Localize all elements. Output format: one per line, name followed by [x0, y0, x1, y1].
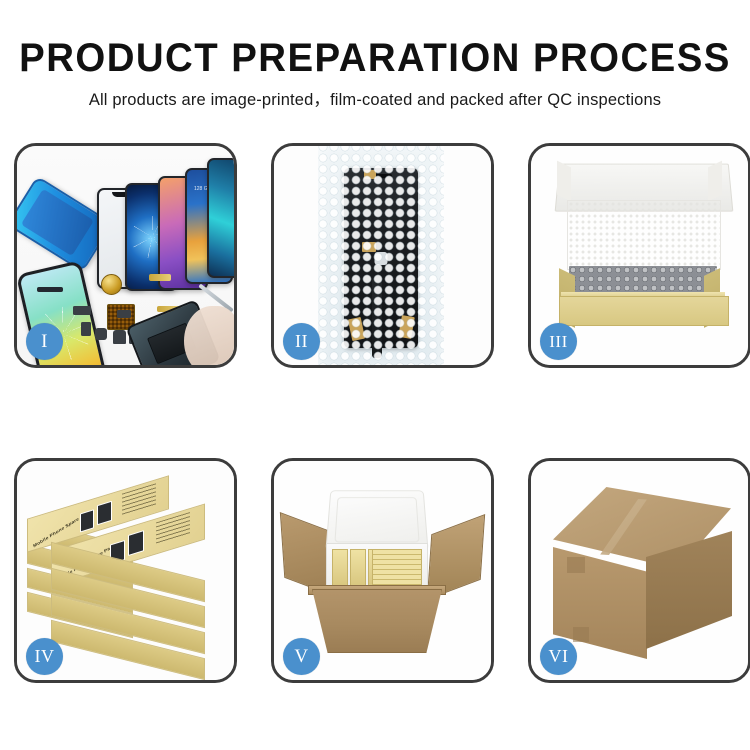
bubble-wrap-bag-icon: [318, 146, 444, 365]
step-2-badge: II: [283, 323, 320, 360]
small-black-bar-part-icon: [37, 287, 63, 292]
box-spec-lines-rear: [122, 483, 156, 515]
step-5-badge: V: [283, 638, 320, 675]
box-lid-left-fold-icon: [557, 161, 571, 202]
process-step-3: III: [528, 143, 750, 368]
box-thumbnail-front-2: [128, 530, 144, 556]
process-steps-grid: 128 GB I: [14, 143, 736, 683]
box-spec-lines-front: [156, 512, 190, 544]
speaker-part-icon: [113, 330, 126, 344]
yellow-box-item: [332, 549, 348, 587]
teal-wave-screen-icon: [207, 158, 234, 278]
process-step-2: II: [271, 143, 494, 368]
page-subtitle: All products are image-printed，film-coat…: [0, 89, 750, 111]
carton-tape-square-upper: [567, 557, 585, 573]
carton-body-icon: [312, 589, 442, 653]
chip-part-icon-3: [95, 328, 107, 340]
chip-part-icon-5: [117, 310, 131, 318]
step-1-badge: I: [26, 323, 63, 360]
step-3-badge: III: [540, 323, 577, 360]
chip-part-icon-2: [81, 322, 91, 336]
process-step-5: V: [271, 458, 494, 683]
process-step-4: Mobile Phone Spare Parts Mobile Phone Sp…: [14, 458, 237, 683]
box-thumbnail-rear-2: [97, 501, 112, 526]
chip-part-icon-1: [73, 306, 91, 315]
step-6-badge: VI: [540, 638, 577, 675]
foam-cooler-lid-icon: [325, 490, 428, 550]
yellow-boxes-horizontal-group: [372, 549, 422, 589]
box-lid-right-fold-icon: [708, 161, 722, 202]
yellow-box-item: [350, 549, 366, 587]
carton-tape-square-lower: [573, 627, 589, 642]
flex-cable-icon-1: [149, 274, 171, 281]
box-thumbnail-rear-1: [80, 509, 94, 532]
page-header: PRODUCT PREPARATION PROCESS All products…: [0, 0, 750, 111]
gold-coil-part-icon: [101, 274, 122, 295]
page-title: PRODUCT PREPARATION PROCESS: [15, 36, 735, 80]
white-foam-sheet-icon: [567, 200, 721, 270]
bubble-texture-overlay: [318, 146, 444, 365]
kraft-box-front-icon: [559, 296, 729, 326]
product-preparation-process-page: PRODUCT PREPARATION PROCESS All products…: [0, 0, 750, 750]
step-4-badge: IV: [26, 638, 63, 675]
process-step-6: VI: [528, 458, 750, 683]
process-step-1: 128 GB I: [14, 143, 237, 368]
